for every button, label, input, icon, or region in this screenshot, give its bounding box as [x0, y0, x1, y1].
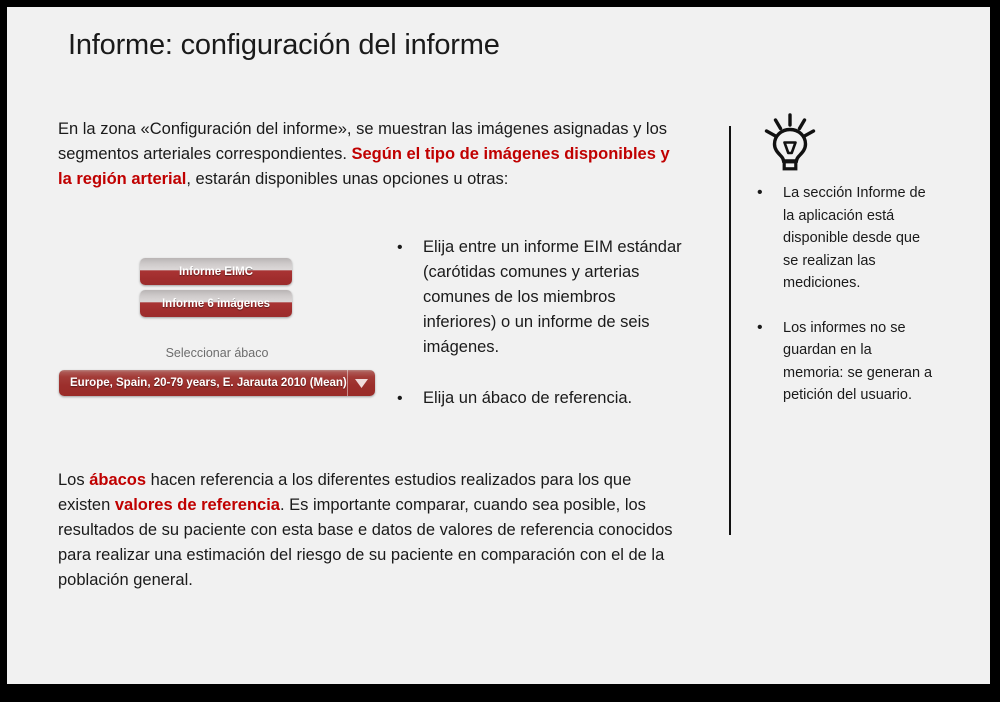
- list-item: La sección Informe de la aplicación está…: [752, 182, 934, 295]
- vertical-divider: [729, 126, 731, 535]
- page-title: Informe: configuración del informe: [68, 29, 500, 62]
- abaco-select[interactable]: Europe, Spain, 20-79 years, E. Jarauta 2…: [59, 370, 375, 396]
- seleccionar-abaco-label: Seleccionar ábaco: [52, 346, 382, 360]
- informe-eimc-button[interactable]: Informe EIMC: [140, 258, 292, 285]
- tips-bullet-list: La sección Informe de la aplicación está…: [752, 182, 934, 429]
- informe-6-imagenes-button[interactable]: Informe 6 imágenes: [140, 290, 292, 317]
- options-bullet-list: Elija entre un informe EIM estándar (car…: [392, 235, 682, 437]
- chevron-down-icon[interactable]: [347, 370, 375, 396]
- list-item: Los informes no se guardan en la memoria…: [752, 317, 934, 407]
- outro-highlight-abacos: ábacos: [89, 471, 146, 489]
- list-item: Elija un ábaco de referencia.: [392, 386, 682, 411]
- list-item: Elija entre un informe EIM estándar (car…: [392, 235, 682, 360]
- outro-paragraph: Los ábacos hacen referencia a los difere…: [58, 468, 683, 593]
- slide-frame: Informe: configuración del informe En la…: [7, 7, 990, 684]
- lightbulb-icon: [764, 113, 816, 176]
- intro-text-part2: , estarán disponibles unas opciones u ot…: [186, 170, 508, 188]
- intro-paragraph: En la zona «Configuración del informe», …: [58, 117, 678, 192]
- application-mockup: Informe EIMC Informe 6 imágenes Seleccio…: [52, 250, 382, 405]
- outro-text-part1: Los: [58, 471, 89, 489]
- outro-highlight-valores: valores de referencia: [115, 496, 280, 514]
- abaco-select-value: Europe, Spain, 20-79 years, E. Jarauta 2…: [59, 377, 347, 389]
